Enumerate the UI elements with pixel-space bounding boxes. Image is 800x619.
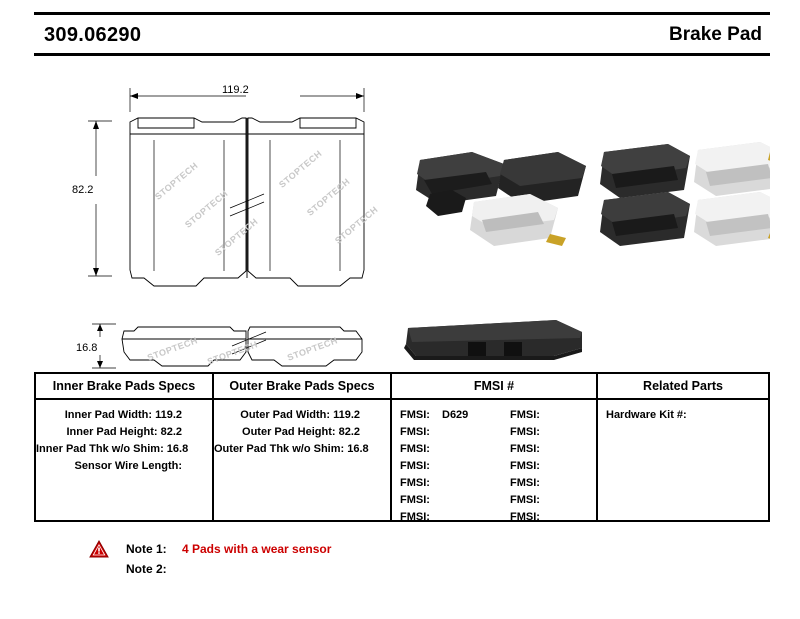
column-header-related: Related Parts xyxy=(598,374,768,400)
fmsi-label: FMSI: xyxy=(400,492,430,509)
table-row: FMSI: FMSI: xyxy=(392,475,596,492)
table-row: Outer Pad Thk w/o Shim: 16.8 xyxy=(214,441,390,458)
fmsi-label: FMSI: xyxy=(400,407,430,424)
inner-pads-column: Inner Brake Pads Specs Inner Pad Width: … xyxy=(36,374,214,520)
table-row: Inner Pad Thk w/o Shim: 16.8 xyxy=(36,441,212,458)
table-row: FMSI: FMSI: xyxy=(392,424,596,441)
column-header-inner: Inner Brake Pads Specs xyxy=(36,374,212,400)
fmsi-label: FMSI: xyxy=(400,509,430,526)
column-header-fmsi: FMSI # xyxy=(392,374,596,400)
table-row: Outer Pad Width: 119.2 xyxy=(214,407,390,424)
table-row: Inner Pad Width: 119.2 xyxy=(36,407,212,424)
pad-photo-group-small xyxy=(416,152,586,246)
table-row: FMSI: FMSI: xyxy=(392,509,596,526)
warning-icon xyxy=(89,540,109,558)
document-page: 309.06290 Brake Pad 119.2 82.2 16.8 xyxy=(34,12,770,607)
notes-section: Note 1: 4 Pads with a wear sensor Note 2… xyxy=(34,532,770,592)
column-header-outer: Outer Brake Pads Specs xyxy=(214,374,390,400)
technical-drawing: 119.2 82.2 16.8 xyxy=(34,56,770,400)
fmsi-label: FMSI: xyxy=(400,475,430,492)
fmsi-label: FMSI: xyxy=(510,458,540,475)
fmsi-label: FMSI: xyxy=(400,441,430,458)
fmsi-column: FMSI # FMSI: D629 FMSI: FMSI: FMSI: FMSI… xyxy=(392,374,598,520)
outer-pads-column: Outer Brake Pads Specs Outer Pad Width: … xyxy=(214,374,392,520)
fmsi-label: FMSI: xyxy=(400,424,430,441)
table-row: FMSI: FMSI: xyxy=(392,441,596,458)
fmsi-label: FMSI: xyxy=(510,509,540,526)
note-1-label: Note 1: xyxy=(126,542,167,556)
table-row: Outer Pad Height: 82.2 xyxy=(214,424,390,441)
fmsi-label: FMSI: xyxy=(510,441,540,458)
table-row: FMSI: FMSI: xyxy=(392,492,596,509)
thickness-dimension-line xyxy=(92,324,116,368)
table-row: FMSI: FMSI: xyxy=(392,458,596,475)
fmsi-value: D629 xyxy=(442,407,468,424)
fmsi-label: FMSI: xyxy=(510,407,540,424)
table-row: FMSI: D629 FMSI: xyxy=(392,407,596,424)
document-header: 309.06290 Brake Pad xyxy=(34,12,770,56)
table-row: Sensor Wire Length: xyxy=(36,458,212,475)
table-row: Hardware Kit #: xyxy=(598,407,768,424)
fmsi-label: FMSI: xyxy=(510,475,540,492)
drawing-svg xyxy=(34,56,770,400)
height-dimension-line xyxy=(88,121,112,276)
fmsi-label: FMSI: xyxy=(510,492,540,509)
fmsi-label: FMSI: xyxy=(510,424,540,441)
width-dimension-line xyxy=(130,88,364,112)
note-2-label: Note 2: xyxy=(126,562,167,576)
table-row: Inner Pad Height: 82.2 xyxy=(36,424,212,441)
specs-table: Inner Brake Pads Specs Inner Pad Width: … xyxy=(34,372,770,522)
related-parts-column: Related Parts Hardware Kit #: xyxy=(598,374,768,520)
pad-photo-grid xyxy=(600,142,770,246)
note-1-value: 4 Pads with a wear sensor xyxy=(182,542,331,556)
page-title: Brake Pad xyxy=(669,24,762,46)
part-number: 309.06290 xyxy=(44,24,141,47)
fmsi-label: FMSI: xyxy=(400,458,430,475)
pad-photo-edge xyxy=(404,320,582,360)
